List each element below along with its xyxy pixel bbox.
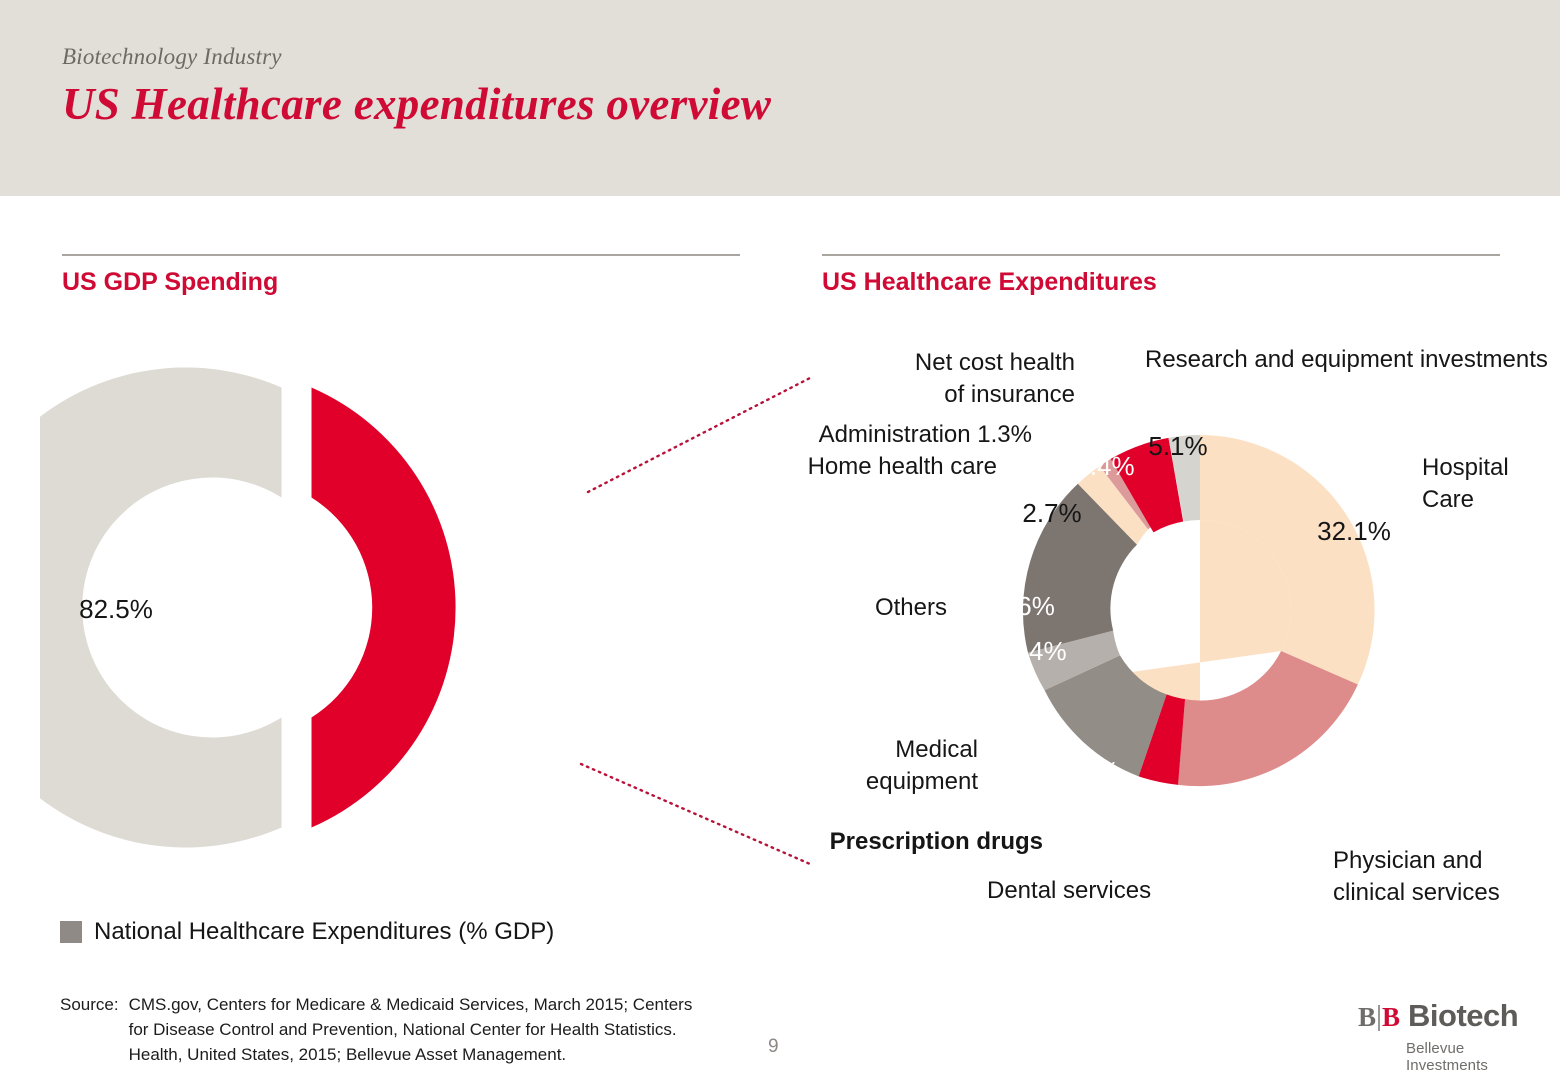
source-label: Source: [60,992,119,1067]
value-net-cost-insurance: 6.4% [1075,451,1134,481]
logo-subtitle: Bellevue Investments [1406,1040,1538,1074]
value-hospital-care: 32.1% [1317,516,1391,546]
gdp-donut-chart: 82.5% 17.5% [40,350,820,890]
donut-slices [1023,435,1375,786]
logo-mark-right-letter: B [1382,1004,1400,1031]
eyebrow-text: Biotechnology Industry [62,44,282,70]
value-medical-equipment: 3.4% [1007,636,1066,666]
value-prescription-drugs: 9.8% [1060,756,1119,786]
healthcare-expenditures-donut-chart: 5.1% 6.4% 2.7% 15.6% 3.4% 9.8% 3.7% 19.9… [800,330,1560,910]
page-title: US Healthcare expenditures overview [62,78,771,130]
gdp-value-other: 82.5% [79,594,153,624]
label-physician-clinical-line2: clinical services [1333,879,1500,906]
label-medical-equipment-line1: Medical [895,736,978,763]
logo-divider-icon [1378,1005,1380,1031]
divider-right [822,254,1500,256]
label-dental-services: Dental services [987,877,1151,904]
page-number: 9 [768,1036,779,1058]
source-line-2: for Disease Control and Prevention, Nati… [129,1017,693,1042]
logo-wordmark: Biotech [1408,1000,1518,1031]
value-dental-services: 3.7% [1130,784,1189,814]
label-administration: Administration 1.3% [819,421,1032,448]
label-home-health-care: Home health care [808,453,997,480]
label-others: Others [875,594,947,621]
source-lines: CMS.gov, Centers for Medicare & Medicaid… [129,992,693,1067]
gdp-slice-other[interactable] [40,368,281,848]
gdp-slice-healthcare[interactable] [312,388,456,828]
logo-top-row: B B Biotech [1358,1000,1538,1031]
logo-mark: B B [1358,1004,1400,1031]
label-hospital-care-line2: Care [1422,486,1474,513]
source-line-3: Health, United States, 2015; Bellevue As… [129,1042,693,1067]
panel-heading-gdp: US GDP Spending [62,268,278,297]
label-net-cost-insurance-line1: Net cost health [915,349,1075,376]
value-research-equipment: 5.1% [1148,431,1207,461]
brand-logo: B B Biotech Bellevue Investments [1358,1000,1538,1074]
legend-swatch-icon [60,921,82,943]
source-line-1: CMS.gov, Centers for Medicare & Medicaid… [129,992,693,1017]
callout-line-bottom [581,764,810,864]
value-home-health-care: 2.7% [1022,498,1081,528]
panel-heading-expenditures: US Healthcare Expenditures [822,268,1157,297]
callout-line-top [588,378,810,492]
label-hospital-care-line1: Hospital [1422,454,1509,481]
label-prescription-drugs: Prescription drugs [830,828,1043,855]
legend-label: National Healthcare Expenditures (% GDP) [94,918,554,946]
legend: National Healthcare Expenditures (% GDP) [60,918,554,946]
label-medical-equipment-line2: equipment [866,768,978,795]
divider-left [62,254,740,256]
label-physician-clinical-line1: Physician and [1333,847,1482,874]
label-research-equipment: Research and equipment investments [1145,346,1548,373]
value-others: 15.6% [981,591,1055,621]
gdp-value-healthcare: 17.5% [513,594,587,624]
logo-mark-left-letter: B [1358,1004,1376,1031]
source-note: Source: CMS.gov, Centers for Medicare & … [60,992,692,1067]
label-net-cost-insurance-line2: of insurance [944,381,1075,408]
value-physician-clinical: 19.9% [1253,774,1327,804]
